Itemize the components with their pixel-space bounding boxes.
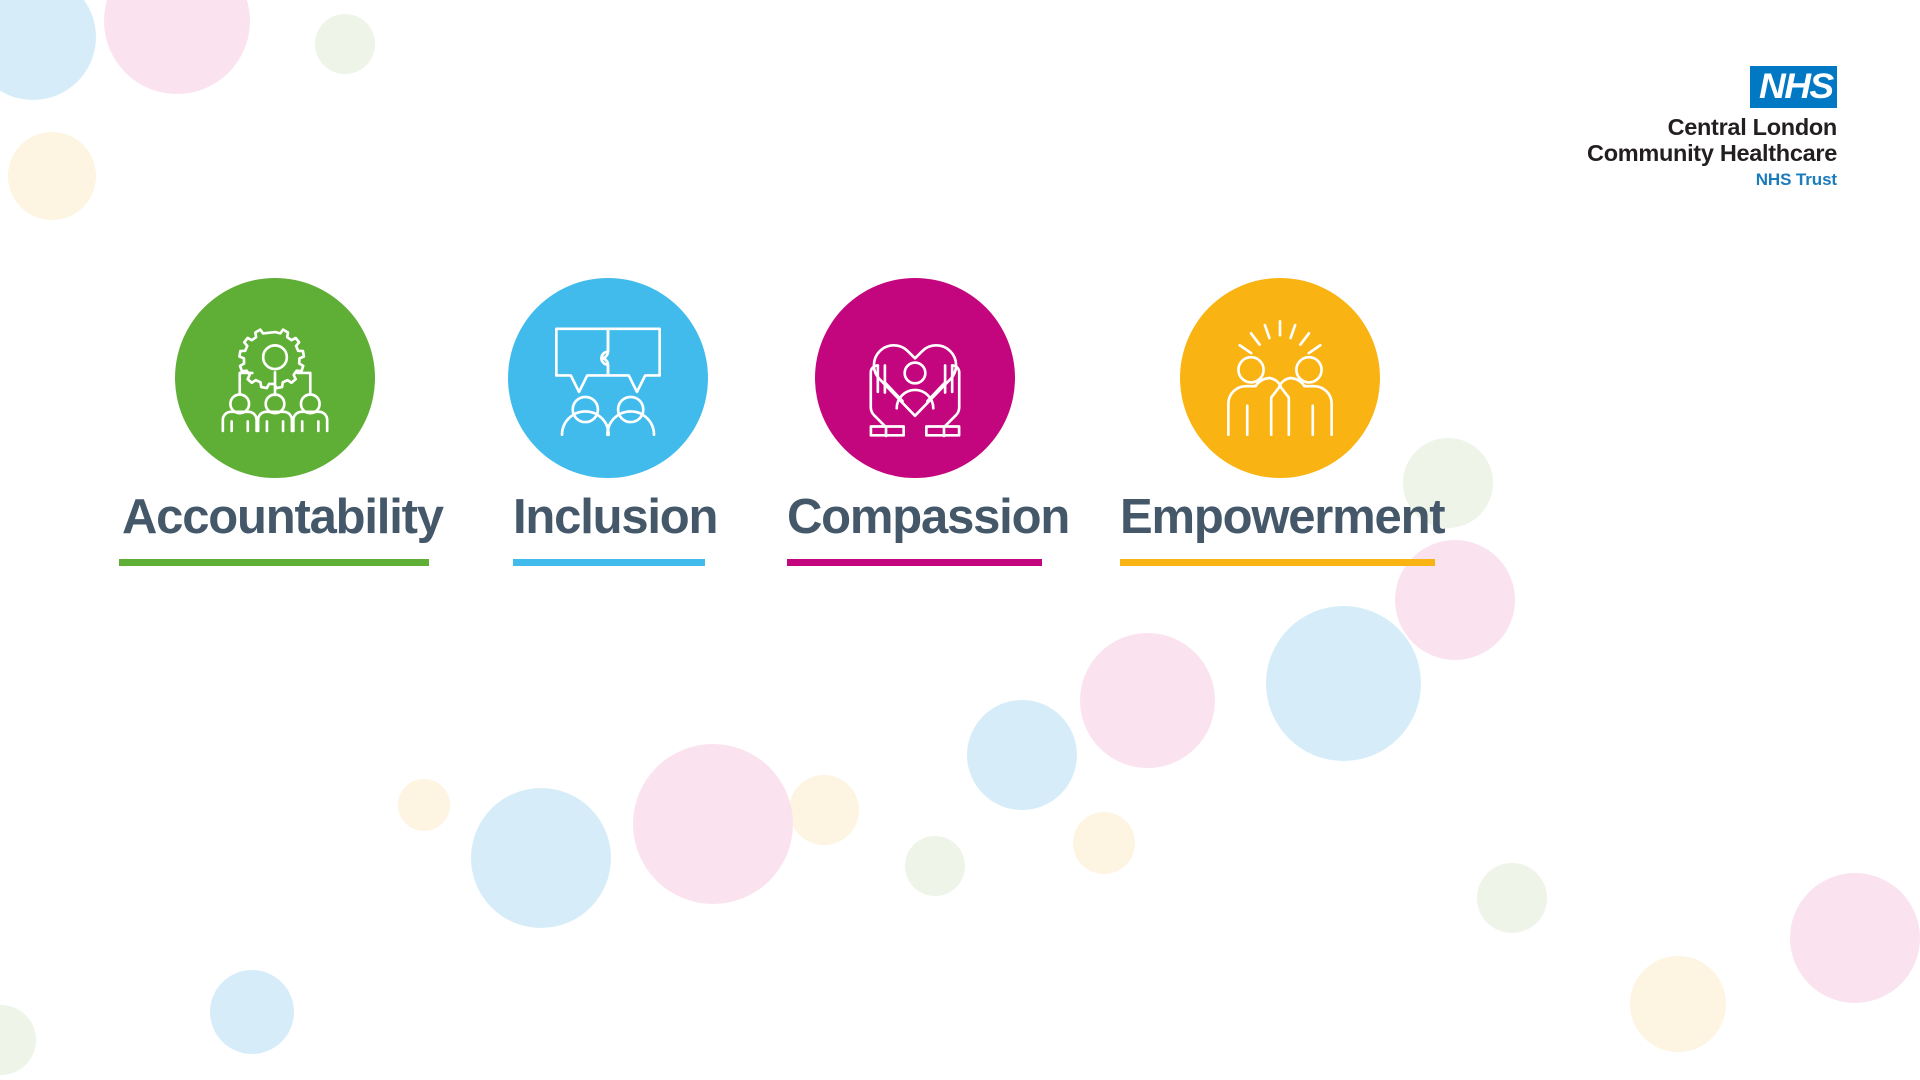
decorative-bubble (1080, 633, 1215, 768)
decorative-bubble (789, 775, 859, 845)
decorative-bubble (967, 700, 1077, 810)
nhs-wordmark: NHS (1750, 66, 1837, 108)
trust-name-line-1: Central London (1417, 115, 1837, 141)
decorative-bubble (0, 0, 96, 100)
value-underline-accountability (119, 559, 429, 566)
decorative-bubble (1790, 873, 1920, 1003)
decorative-bubble (1630, 956, 1726, 1052)
gear-with-three-people-icon (212, 315, 338, 441)
value-label-inclusion: Inclusion (513, 493, 717, 542)
decorative-bubble (0, 1005, 36, 1075)
decorative-bubble (905, 836, 965, 896)
value-label-accountability: Accountability (122, 493, 443, 542)
value-underline-empowerment (1120, 559, 1435, 566)
value-circle-compassion[interactable] (815, 278, 1015, 478)
speech-bubble-puzzle-two-people-icon (545, 315, 671, 441)
slide-canvas: NHS Central London Community Healthcare … (0, 0, 1920, 1080)
trust-name-line-2: Community Healthcare (1417, 141, 1837, 167)
nhs-wordmark-text: NHS (1759, 70, 1833, 103)
decorative-bubble (315, 14, 375, 74)
decorative-bubble (1395, 540, 1515, 660)
decorative-bubble (8, 132, 96, 220)
hands-holding-heart-person-icon (852, 315, 978, 441)
decorative-bubble (1073, 812, 1135, 874)
value-label-empowerment: Empowerment (1120, 493, 1444, 542)
nhs-trust-label: NHS Trust (1417, 170, 1837, 190)
nhs-logo: NHS Central London Community Healthcare … (1417, 66, 1837, 190)
value-underline-inclusion (513, 559, 705, 566)
value-underline-compassion (787, 559, 1042, 566)
decorative-bubble (398, 779, 450, 831)
decorative-bubble (471, 788, 611, 928)
value-circle-inclusion[interactable] (508, 278, 708, 478)
decorative-bubble (633, 744, 793, 904)
decorative-bubble (210, 970, 294, 1054)
decorative-bubble (1266, 606, 1421, 761)
decorative-bubble (104, 0, 250, 94)
two-people-high-five-icon (1217, 315, 1343, 441)
value-circle-accountability[interactable] (175, 278, 375, 478)
decorative-bubble (1477, 863, 1547, 933)
value-circle-empowerment[interactable] (1180, 278, 1380, 478)
value-label-compassion: Compassion (787, 493, 1069, 542)
